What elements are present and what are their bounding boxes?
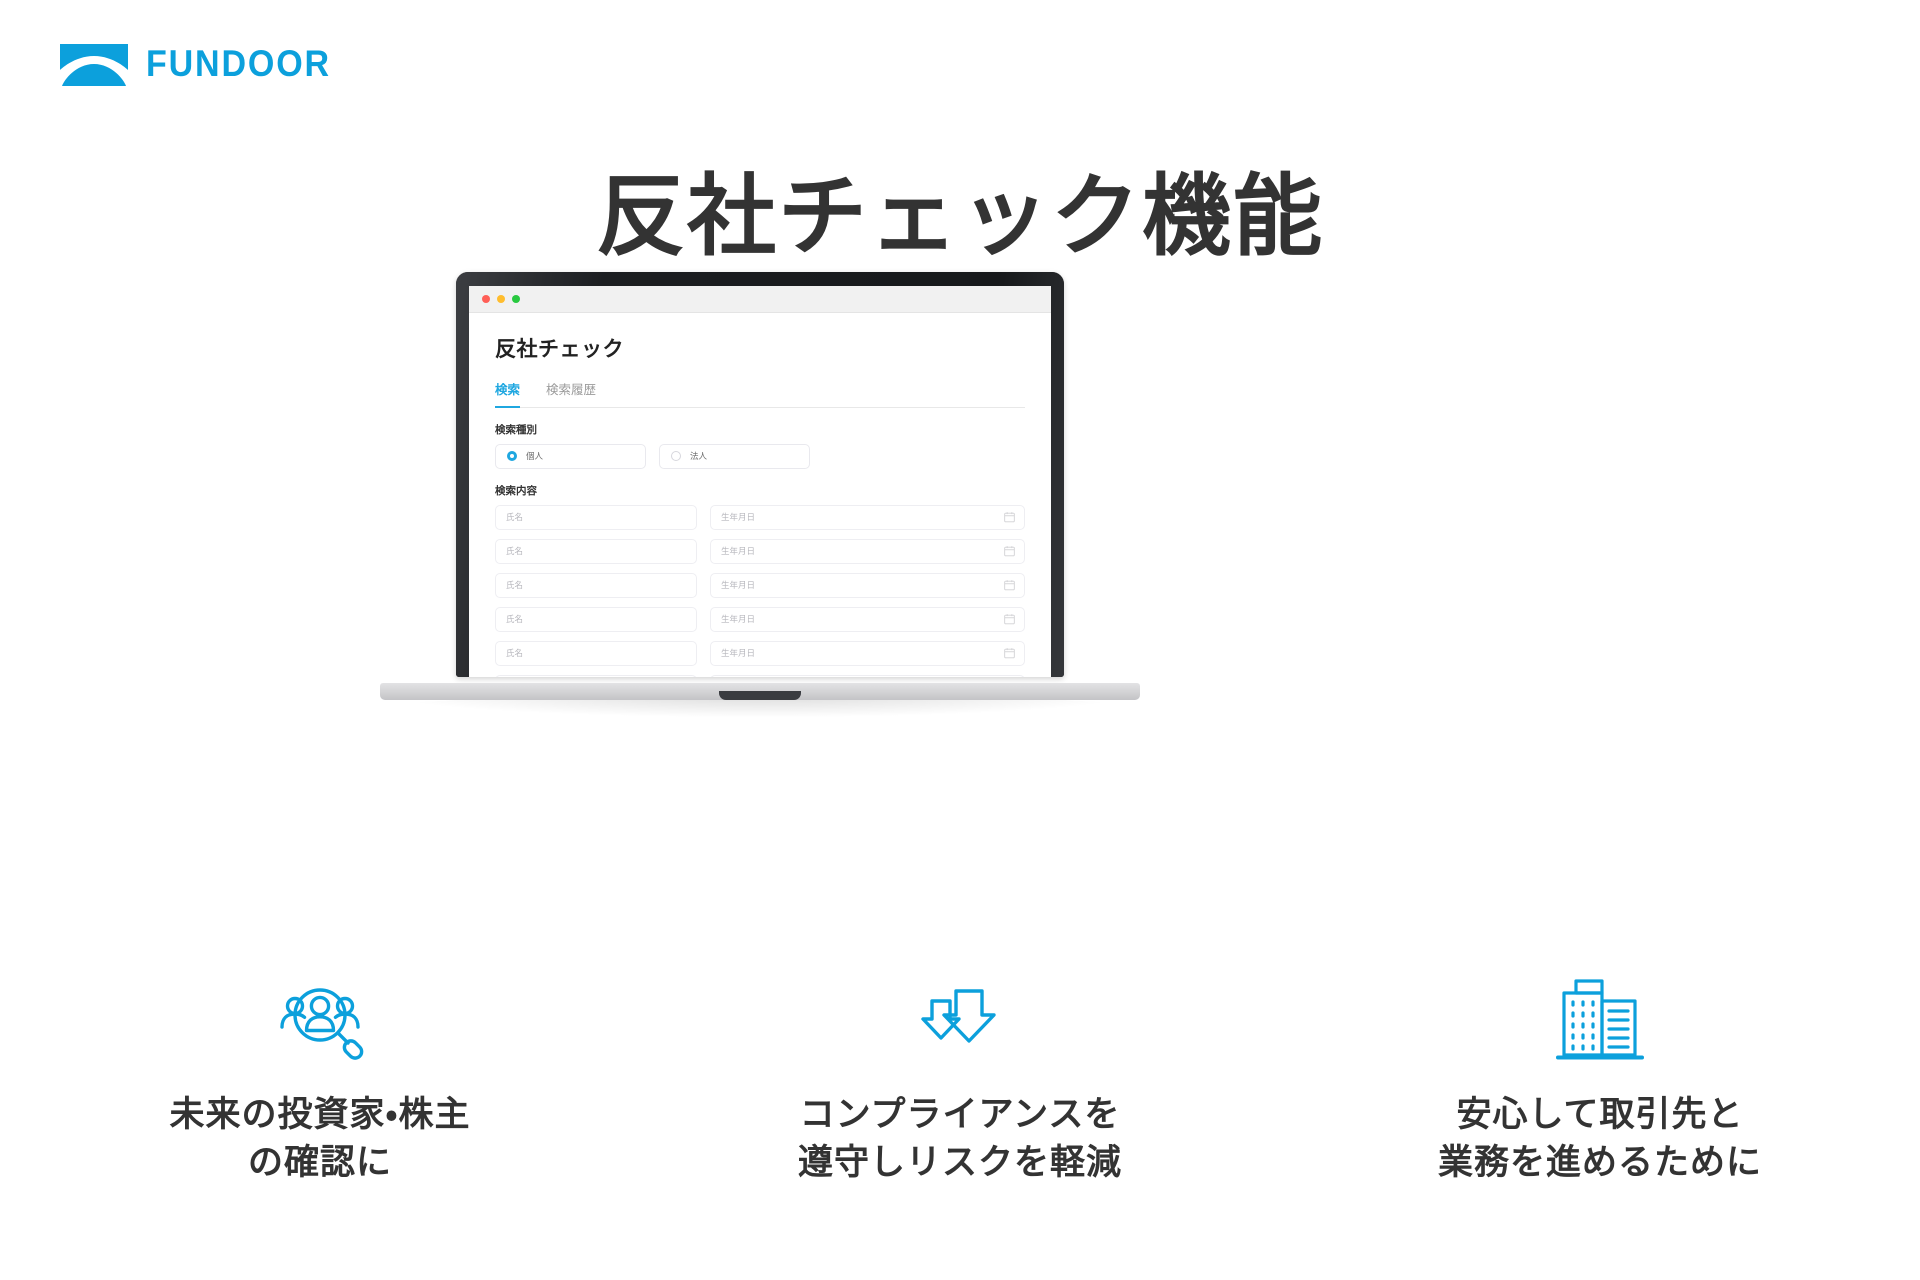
search-row: 氏名 生年月日 — [495, 675, 1025, 678]
feature-caption-line1: コンプライアンスを — [798, 1091, 1122, 1139]
search-row: 氏名 生年月日 — [495, 641, 1025, 666]
name-input[interactable]: 氏名 — [495, 675, 697, 678]
people-search-icon — [266, 975, 374, 1067]
window-title-bar — [469, 286, 1051, 313]
search-content-rows: 氏名 生年月日 氏名 — [495, 505, 1025, 678]
page-title: 反社チェック機能 — [0, 168, 1920, 264]
feature-caption-line2: の確認に — [170, 1139, 471, 1187]
birthdate-placeholder: 生年月日 — [721, 511, 755, 523]
laptop-screen: 反社チェック 検索 検索履歴 検索種別 個人 法人 検索内容 — [469, 286, 1051, 677]
name-input[interactable]: 氏名 — [495, 573, 697, 598]
double-down-arrow-icon — [910, 975, 1010, 1067]
app-content: 反社チェック 検索 検索履歴 検索種別 個人 法人 検索内容 — [469, 313, 1051, 677]
feature-caption-line1: 安心して取引先と — [1438, 1091, 1762, 1139]
tab-search-history[interactable]: 検索履歴 — [546, 379, 596, 407]
feature-caption-line2: 業務を進めるために — [1438, 1139, 1762, 1187]
search-row: 氏名 生年月日 — [495, 539, 1025, 564]
search-type-radio-group: 個人 法人 — [495, 444, 1025, 469]
search-content-label: 検索内容 — [495, 483, 1025, 498]
tab-search[interactable]: 検索 — [495, 379, 520, 408]
brand-logo[interactable]: FUNDOOR — [58, 40, 347, 88]
birthdate-placeholder: 生年月日 — [721, 545, 755, 557]
calendar-icon[interactable] — [1004, 512, 1015, 523]
feature-caption: コンプライアンスを 遵守しリスクを軽減 — [798, 1091, 1122, 1188]
minimize-yellow-icon[interactable] — [497, 295, 505, 303]
office-buildings-icon — [1552, 975, 1648, 1067]
bridge-arch-mark-icon — [58, 40, 130, 88]
search-row: 氏名 生年月日 — [495, 505, 1025, 530]
calendar-icon[interactable] — [1004, 546, 1015, 557]
feature-list: 未来の投資家・株主 の確認に コンプライアンスを 遵守しリスクを軽減 — [0, 975, 1920, 1188]
radio-label-individual: 個人 — [526, 450, 543, 462]
feature-item: 安心して取引先と 業務を進めるために — [1280, 975, 1920, 1188]
birthdate-placeholder: 生年月日 — [721, 647, 755, 659]
name-input[interactable]: 氏名 — [495, 641, 697, 666]
birthdate-input[interactable]: 生年月日 — [710, 505, 1025, 530]
laptop-hinge-notch — [719, 691, 801, 700]
feature-caption: 安心して取引先と 業務を進めるために — [1438, 1091, 1762, 1188]
radio-label-corporate: 法人 — [690, 450, 707, 462]
brand-name: FUNDOOR — [146, 43, 331, 85]
laptop-mockup: 反社チェック 検索 検索履歴 検索種別 個人 法人 検索内容 — [380, 272, 1140, 752]
close-red-icon[interactable] — [482, 295, 490, 303]
tab-bar: 検索 検索履歴 — [495, 379, 1025, 408]
feature-item: 未来の投資家・株主 の確認に — [0, 975, 640, 1188]
radio-unselected-icon — [671, 451, 681, 461]
feature-caption-line1: 未来の投資家・株主 — [170, 1091, 471, 1139]
birthdate-placeholder: 生年月日 — [721, 579, 755, 591]
search-type-label: 検索種別 — [495, 422, 1025, 437]
feature-item: コンプライアンスを 遵守しリスクを軽減 — [640, 975, 1280, 1188]
name-input[interactable]: 氏名 — [495, 607, 697, 632]
calendar-icon[interactable] — [1004, 580, 1015, 591]
name-input[interactable]: 氏名 — [495, 539, 697, 564]
calendar-icon[interactable] — [1004, 648, 1015, 659]
search-row: 氏名 生年月日 — [495, 607, 1025, 632]
laptop-lid: 反社チェック 検索 検索履歴 検索種別 個人 法人 検索内容 — [456, 272, 1064, 677]
name-input[interactable]: 氏名 — [495, 505, 697, 530]
feature-caption: 未来の投資家・株主 の確認に — [170, 1091, 471, 1188]
radio-selected-icon — [507, 451, 517, 461]
radio-option-individual[interactable]: 個人 — [495, 444, 646, 469]
maximize-green-icon[interactable] — [512, 295, 520, 303]
feature-caption-line2: 遵守しリスクを軽減 — [798, 1139, 1122, 1187]
birthdate-placeholder: 生年月日 — [721, 613, 755, 625]
birthdate-input[interactable]: 生年月日 — [710, 539, 1025, 564]
birthdate-input[interactable]: 生年月日 — [710, 607, 1025, 632]
birthdate-input[interactable]: 生年月日 — [710, 573, 1025, 598]
birthdate-input[interactable]: 生年月日 — [710, 641, 1025, 666]
search-row: 氏名 生年月日 — [495, 573, 1025, 598]
birthdate-input[interactable]: 生年月日 — [710, 675, 1025, 678]
calendar-icon[interactable] — [1004, 614, 1015, 625]
app-page-title: 反社チェック — [495, 333, 1025, 363]
radio-option-corporate[interactable]: 法人 — [659, 444, 810, 469]
